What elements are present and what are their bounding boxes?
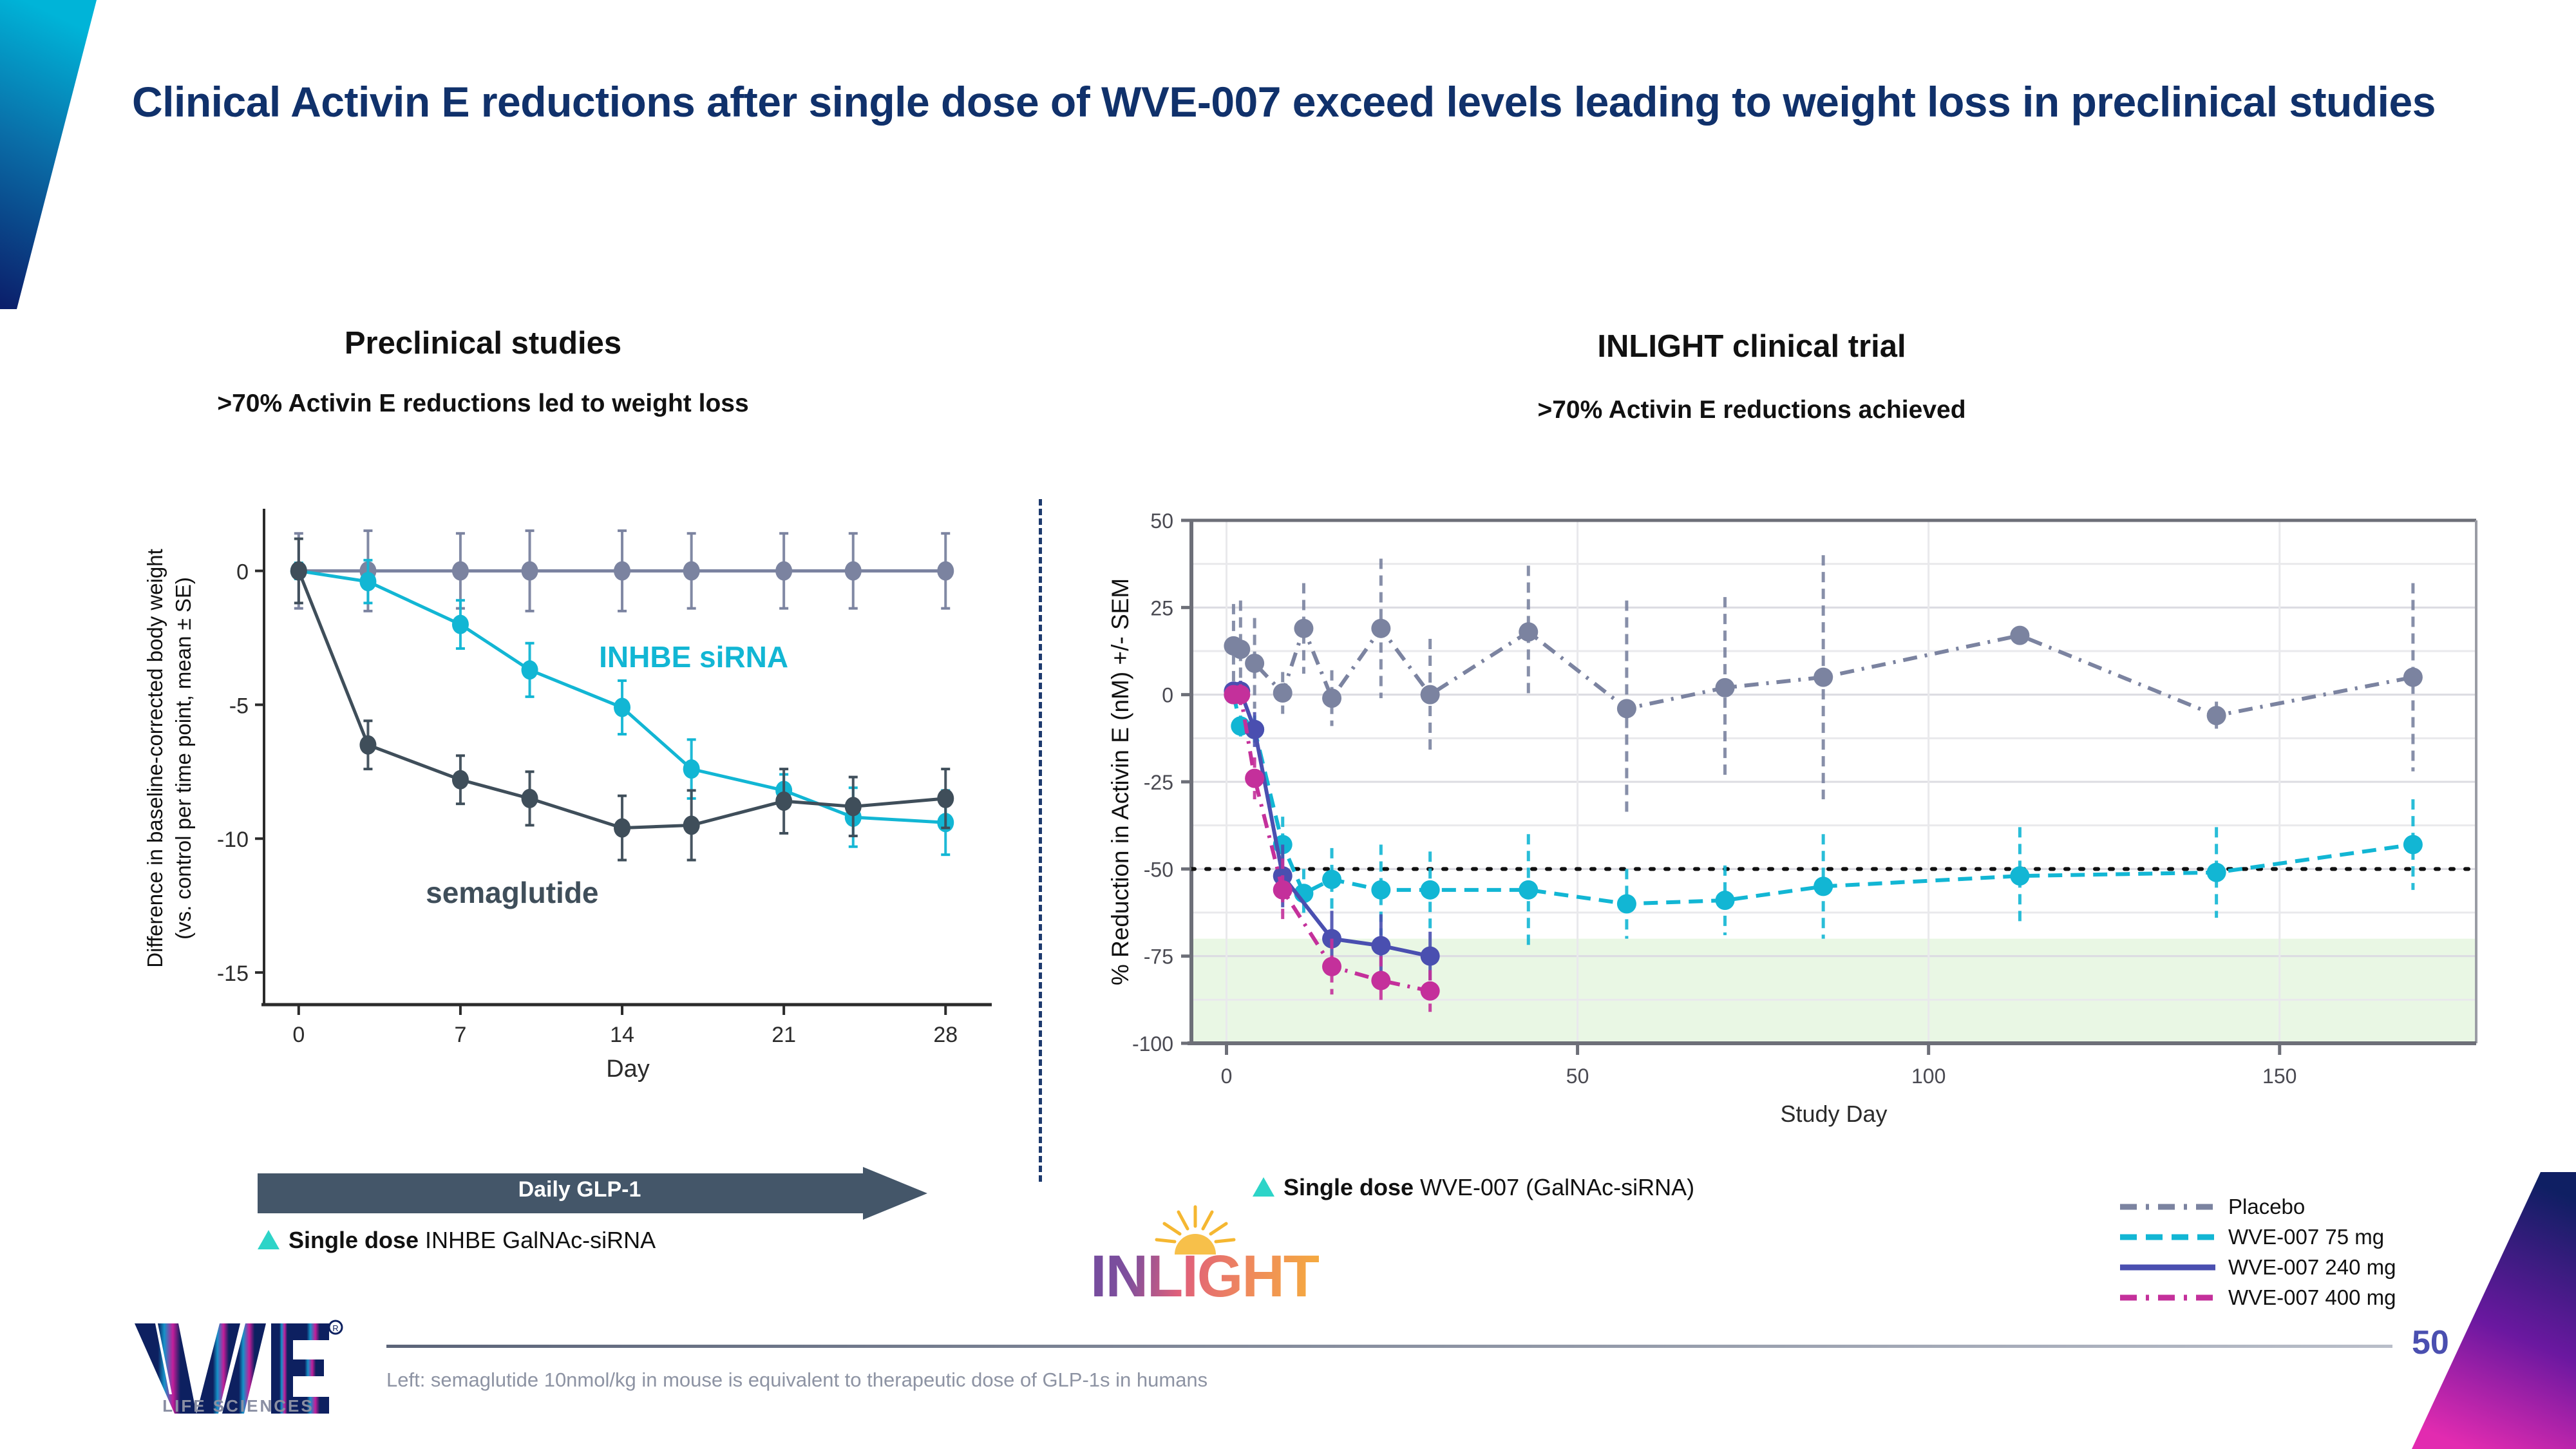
legend-swatch-3 — [2119, 1290, 2217, 1305]
svg-text:% Reduction in Activin E (nM): % Reduction in Activin E (nM) +/- SEM — [1107, 578, 1133, 985]
svg-text:INHBE siRNA: INHBE siRNA — [599, 640, 788, 674]
left-single-dose-note: Single dose INHBE GalNAc-siRNA — [258, 1227, 656, 1254]
svg-text:14: 14 — [610, 1023, 634, 1047]
left-dose-bold: Single dose — [289, 1227, 419, 1253]
svg-text:25: 25 — [1150, 596, 1173, 620]
svg-text:0: 0 — [1221, 1065, 1233, 1088]
right-dose-bold: Single dose — [1283, 1174, 1414, 1200]
svg-text:-50: -50 — [1144, 858, 1173, 881]
footer-divider — [386, 1345, 2392, 1348]
svg-text:50: 50 — [1566, 1065, 1589, 1088]
right-panel-heading: INLIGHT clinical trial — [1301, 328, 2202, 365]
legend-swatch-2 — [2119, 1260, 2217, 1275]
triangle-marker-icon — [1253, 1177, 1274, 1197]
svg-text:R: R — [332, 1323, 338, 1333]
slide-title: Clinical Activin E reductions after sing… — [132, 77, 2515, 128]
legend-label-3: WVE-007 400 mg — [2228, 1285, 2396, 1310]
svg-text:28: 28 — [933, 1023, 958, 1047]
legend-swatch-0 — [2119, 1199, 2217, 1215]
daily-glp1-arrow — [258, 1167, 927, 1220]
inlight-wordmark: INLIGHT — [1069, 1247, 1340, 1306]
svg-text:-25: -25 — [1144, 771, 1173, 794]
chart-legend: PlaceboWVE-007 75 mgWVE-007 240 mgWVE-00… — [2119, 1191, 2531, 1312]
right-single-dose-note: Single dose WVE-007 (GalNAc-siRNA) — [1253, 1174, 1694, 1201]
wave-tagline: LIFE SCIENCES — [132, 1396, 345, 1416]
right-panel-subheading: >70% Activin E reductions achieved — [1301, 396, 2202, 424]
legend-item-2[interactable]: WVE-007 240 mg — [2119, 1252, 2531, 1282]
legend-label-2: WVE-007 240 mg — [2228, 1255, 2396, 1280]
svg-text:7: 7 — [454, 1023, 466, 1047]
svg-text:-100: -100 — [1132, 1032, 1173, 1056]
svg-text:0: 0 — [292, 1023, 305, 1047]
left-panel-heading: Preclinical studies — [129, 325, 837, 361]
right-dose-rest: WVE-007 (GalNAc-siRNA) — [1414, 1174, 1694, 1200]
svg-text:100: 100 — [1911, 1065, 1946, 1088]
svg-text:21: 21 — [772, 1023, 796, 1047]
svg-text:-5: -5 — [229, 694, 249, 718]
inlight-activin-e-chart: 50250-25-50-75-100050100150Study Day% Re… — [1095, 509, 2486, 1140]
corner-accent-top-left — [0, 0, 193, 309]
svg-text:-75: -75 — [1144, 945, 1173, 969]
triangle-marker-icon — [258, 1230, 279, 1249]
page-number: 50 — [2412, 1323, 2449, 1362]
svg-text:Study Day: Study Day — [1780, 1101, 1887, 1127]
legend-label-0: Placebo — [2228, 1195, 2305, 1219]
svg-text:(vs. control per time point, m: (vs. control per time point, mean ± SE) — [171, 577, 195, 940]
legend-item-0[interactable]: Placebo — [2119, 1191, 2531, 1222]
svg-text:-15: -15 — [217, 961, 249, 986]
svg-text:150: 150 — [2262, 1065, 2297, 1088]
legend-label-1: WVE-007 75 mg — [2228, 1225, 2384, 1249]
svg-text:50: 50 — [1150, 509, 1173, 533]
svg-text:0: 0 — [236, 560, 249, 584]
svg-text:0: 0 — [1162, 684, 1173, 707]
svg-text:semaglutide: semaglutide — [426, 876, 598, 909]
legend-item-1[interactable]: WVE-007 75 mg — [2119, 1222, 2531, 1252]
svg-text:Day: Day — [606, 1056, 650, 1083]
preclinical-body-weight-chart: 0-5-10-1507142128DayDifference in baseli… — [135, 489, 1030, 1095]
svg-text:Difference in baseline-correct: Difference in baseline-corrected body we… — [143, 549, 167, 968]
footnote-text: Left: semaglutide 10nmol/kg in mouse is … — [386, 1368, 1207, 1392]
left-dose-rest: INHBE GalNAc-siRNA — [419, 1227, 656, 1253]
left-panel-subheading: >70% Activin E reductions led to weight … — [103, 390, 863, 418]
inlight-logo: INLIGHT — [1069, 1204, 1340, 1327]
legend-swatch-1 — [2119, 1229, 2217, 1245]
panel-divider — [1039, 499, 1042, 1182]
legend-item-3[interactable]: WVE-007 400 mg — [2119, 1282, 2531, 1312]
svg-text:-10: -10 — [217, 828, 249, 852]
